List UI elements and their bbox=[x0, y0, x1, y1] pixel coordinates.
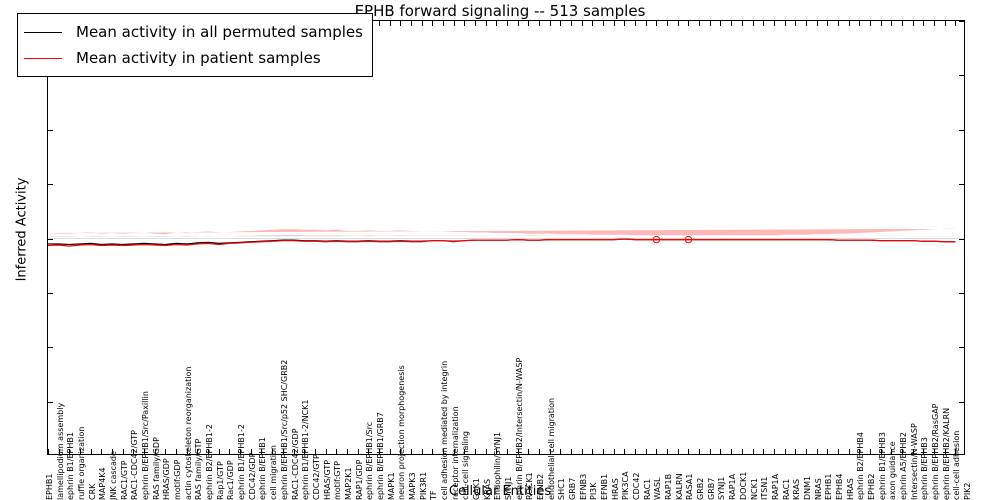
x-tick bbox=[358, 449, 359, 454]
series-band bbox=[48, 229, 955, 236]
x-tick bbox=[795, 449, 796, 454]
x-tick bbox=[710, 449, 711, 454]
x-tick bbox=[624, 21, 625, 26]
x-tick bbox=[742, 21, 743, 26]
x-tick bbox=[91, 449, 92, 454]
x-tick bbox=[624, 449, 625, 454]
x-tick bbox=[859, 21, 860, 26]
x-tick bbox=[688, 449, 689, 454]
x-tick bbox=[678, 21, 679, 26]
x-tick bbox=[176, 449, 177, 454]
x-tick bbox=[560, 21, 561, 26]
x-tick bbox=[945, 21, 946, 26]
x-tick-label: actin cytoskeleton reorganization bbox=[185, 367, 193, 500]
x-tick bbox=[827, 21, 828, 26]
legend-item: Mean activity in patient samples bbox=[24, 45, 363, 71]
y-tick bbox=[959, 293, 964, 294]
x-tick bbox=[763, 449, 764, 454]
x-tick bbox=[678, 449, 679, 454]
series-line bbox=[48, 239, 955, 246]
x-tick bbox=[934, 21, 935, 26]
x-tick bbox=[774, 449, 775, 454]
y-tick bbox=[48, 239, 53, 240]
x-tick bbox=[326, 449, 327, 454]
x-tick bbox=[785, 21, 786, 26]
x-tick bbox=[731, 449, 732, 454]
legend: Mean activity in all permuted samples Me… bbox=[17, 13, 373, 77]
x-tick bbox=[165, 449, 166, 454]
x-tick bbox=[646, 21, 647, 26]
x-tick bbox=[422, 449, 423, 454]
x-tick-label: cell adhesion mediated by integrin bbox=[441, 361, 449, 500]
x-tick bbox=[699, 449, 700, 454]
x-tick bbox=[432, 21, 433, 26]
x-tick bbox=[528, 21, 529, 26]
x-tick bbox=[838, 21, 839, 26]
x-tick bbox=[528, 449, 529, 454]
x-tick bbox=[347, 449, 348, 454]
x-tick bbox=[635, 449, 636, 454]
x-tick bbox=[923, 21, 924, 26]
x-tick bbox=[795, 21, 796, 26]
x-tick bbox=[720, 21, 721, 26]
x-tick bbox=[688, 21, 689, 26]
x-tick bbox=[881, 21, 882, 26]
x-tick bbox=[400, 21, 401, 26]
legend-line-permuted bbox=[24, 32, 62, 33]
x-tick-label: ephrin B/EPHB1/Src/p52 SHC/GRB2 bbox=[281, 360, 289, 500]
x-tick bbox=[667, 449, 668, 454]
y-tick bbox=[959, 402, 964, 403]
x-tick bbox=[753, 449, 754, 454]
x-tick bbox=[806, 21, 807, 26]
x-tick bbox=[720, 449, 721, 454]
legend-item: Mean activity in all permuted samples bbox=[24, 19, 363, 45]
x-tick bbox=[731, 21, 732, 26]
x-tick bbox=[123, 449, 124, 454]
x-tick bbox=[817, 21, 818, 26]
x-tick bbox=[229, 449, 230, 454]
x-tick-label: ephrin B/EPHB2/Intersectin/N-WASP bbox=[516, 358, 524, 500]
y-tick bbox=[959, 130, 964, 131]
legend-label-permuted: Mean activity in all permuted samples bbox=[76, 23, 363, 41]
x-tick bbox=[635, 21, 636, 26]
figure: EPHB forward signaling -- 513 samples In… bbox=[0, 0, 1000, 500]
x-tick bbox=[603, 449, 604, 454]
x-tick bbox=[656, 21, 657, 26]
x-tick bbox=[849, 21, 850, 26]
x-tick bbox=[571, 449, 572, 454]
x-tick bbox=[742, 449, 743, 454]
y-tick bbox=[48, 293, 53, 294]
y-tick bbox=[959, 75, 964, 76]
x-tick bbox=[539, 21, 540, 26]
y-tick bbox=[959, 239, 964, 240]
legend-label-patient: Mean activity in patient samples bbox=[76, 49, 321, 67]
x-tick bbox=[913, 21, 914, 26]
x-axis-label: Cellular Entities bbox=[0, 484, 1000, 499]
x-tick bbox=[454, 21, 455, 26]
x-tick bbox=[475, 21, 476, 26]
y-tick bbox=[48, 402, 53, 403]
x-tick bbox=[486, 449, 487, 454]
x-tick bbox=[582, 449, 583, 454]
x-tick bbox=[422, 21, 423, 26]
x-tick bbox=[496, 21, 497, 26]
y-tick bbox=[48, 130, 53, 131]
x-tick bbox=[774, 21, 775, 26]
x-tick bbox=[592, 21, 593, 26]
x-tick bbox=[891, 21, 892, 26]
series-band bbox=[48, 235, 955, 237]
x-tick bbox=[806, 449, 807, 454]
y-tick bbox=[959, 347, 964, 348]
y-tick bbox=[48, 184, 53, 185]
x-tick bbox=[753, 21, 754, 26]
x-tick bbox=[550, 21, 551, 26]
x-tick bbox=[48, 449, 49, 454]
x-tick bbox=[582, 21, 583, 26]
x-tick bbox=[507, 449, 508, 454]
x-tick bbox=[838, 449, 839, 454]
x-tick bbox=[486, 21, 487, 26]
x-tick bbox=[614, 449, 615, 454]
y-tick bbox=[48, 347, 53, 348]
x-tick bbox=[817, 449, 818, 454]
x-tick bbox=[475, 449, 476, 454]
x-tick bbox=[518, 21, 519, 26]
x-tick-label: neuron projection morphogenesis bbox=[398, 365, 406, 500]
x-tick bbox=[464, 21, 465, 26]
x-tick bbox=[870, 21, 871, 26]
x-tick bbox=[101, 449, 102, 454]
legend-line-patient bbox=[24, 58, 62, 59]
x-tick bbox=[827, 449, 828, 454]
x-tick bbox=[902, 21, 903, 26]
x-tick bbox=[785, 449, 786, 454]
x-tick bbox=[614, 21, 615, 26]
x-tick bbox=[336, 449, 337, 454]
x-tick bbox=[411, 449, 412, 454]
x-tick bbox=[763, 21, 764, 26]
x-tick bbox=[667, 21, 668, 26]
x-tick bbox=[571, 21, 572, 26]
x-tick bbox=[219, 449, 220, 454]
y-axis-label: Inferred Activity bbox=[15, 20, 30, 440]
x-tick bbox=[710, 21, 711, 26]
x-tick bbox=[390, 449, 391, 454]
x-tick bbox=[443, 21, 444, 26]
x-tick bbox=[955, 21, 956, 26]
y-tick bbox=[959, 184, 964, 185]
x-tick bbox=[603, 21, 604, 26]
x-tick bbox=[656, 449, 657, 454]
x-tick bbox=[646, 449, 647, 454]
x-tick bbox=[379, 21, 380, 26]
x-tick bbox=[507, 21, 508, 26]
x-tick bbox=[432, 449, 433, 454]
x-tick bbox=[592, 449, 593, 454]
x-tick bbox=[539, 449, 540, 454]
x-tick bbox=[849, 449, 850, 454]
x-tick bbox=[699, 21, 700, 26]
x-tick bbox=[390, 21, 391, 26]
x-tick bbox=[870, 449, 871, 454]
x-tick bbox=[560, 449, 561, 454]
x-tick bbox=[411, 21, 412, 26]
